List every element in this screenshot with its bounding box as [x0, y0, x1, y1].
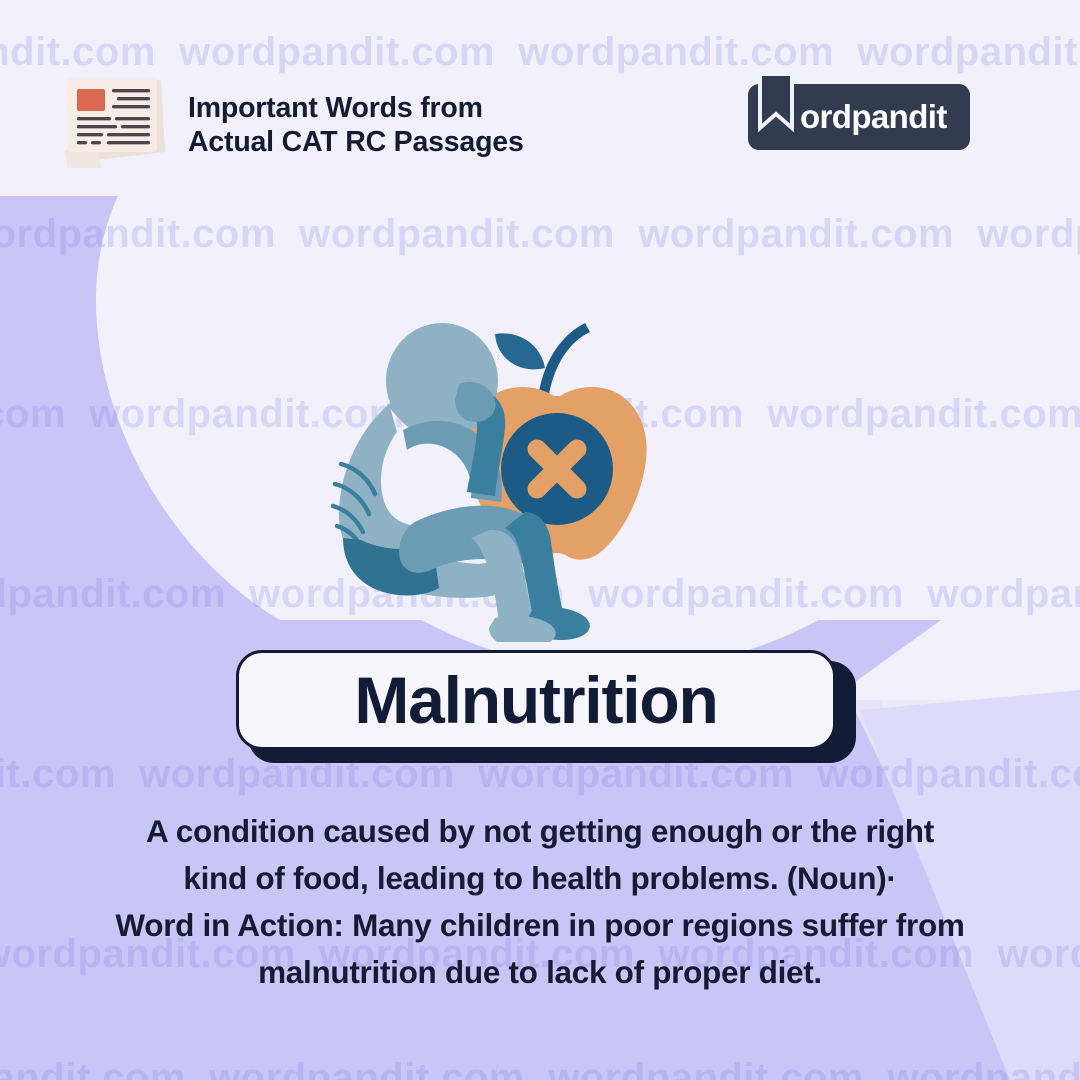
logo-text: ordpandit: [800, 98, 947, 136]
word-term: Malnutrition: [354, 662, 717, 738]
page-title-line2: Actual CAT RC Passages: [188, 126, 524, 160]
apple-stem: [539, 323, 590, 394]
bookmark-w-icon: [758, 72, 794, 134]
newspaper-icon: [57, 72, 172, 170]
page-title-line1: Important Words from: [188, 92, 524, 126]
header: Important Words from Actual CAT RC Passa…: [0, 0, 1080, 190]
definition-block: A condition caused by not getting enough…: [40, 808, 1040, 996]
definition-line-1: A condition caused by not getting enough…: [40, 808, 1040, 855]
word-card-body: Malnutrition: [236, 650, 836, 750]
malnutrition-illustration: [283, 312, 683, 642]
apple-leaf: [495, 333, 545, 369]
newspaper-image-block: [77, 89, 105, 111]
definition-line-3: Word in Action: Many children in poor re…: [40, 902, 1040, 949]
word-card: Malnutrition: [236, 650, 844, 755]
definition-line-2: kind of food, leading to health problems…: [40, 855, 1040, 902]
wordpandit-logo[interactable]: ordpandit: [748, 84, 970, 150]
page-title: Important Words from Actual CAT RC Passa…: [188, 92, 524, 159]
definition-line-4: malnutrition due to lack of proper diet.: [40, 949, 1040, 996]
